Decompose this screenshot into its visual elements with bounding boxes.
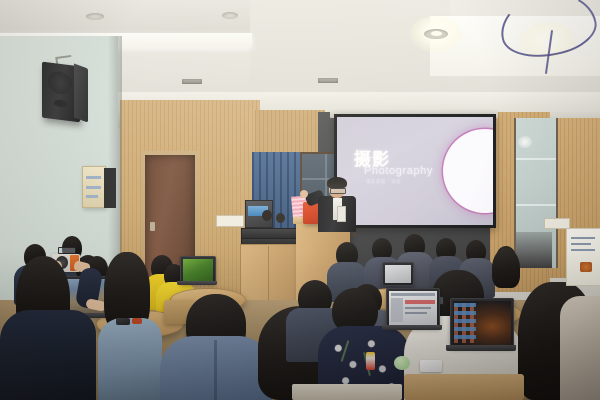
laptop[interactable] [180, 256, 216, 284]
downlight-ring-1 [86, 13, 104, 20]
room-sign-plate [216, 215, 244, 227]
far-person-head [262, 210, 272, 221]
speaker-woofer [48, 70, 72, 95]
red-object [132, 318, 142, 324]
classroom-photo: 摄影 Photography 摄影基础 · 讲座 [0, 0, 600, 400]
audience-body [560, 296, 600, 400]
poster-line [571, 237, 595, 239]
av-cabinet-divider [268, 246, 269, 308]
app-line [405, 307, 431, 309]
paper-on-table [292, 384, 402, 400]
poster-line [571, 249, 595, 251]
laptop[interactable] [450, 298, 514, 348]
ceiling-soffit-left [0, 0, 250, 36]
presenter-hand [300, 190, 308, 198]
app-titlebar [391, 293, 435, 296]
smartphone[interactable] [420, 360, 442, 372]
desktop-icon-grid [454, 303, 476, 343]
slide-title-english: Photography [364, 165, 433, 177]
shirt-seam [214, 340, 217, 400]
wall-sign-small [544, 218, 570, 229]
downlight-ring-2 [222, 12, 238, 19]
app-sidebar [391, 298, 403, 322]
laptop[interactable] [382, 262, 414, 286]
door-handle[interactable] [150, 222, 155, 231]
audience-body-light-blue [98, 318, 162, 400]
far-person-head [276, 213, 285, 223]
laptop-screen-content [389, 291, 437, 325]
laptop-base [382, 325, 442, 330]
audience-glasses-icon [58, 247, 76, 254]
green-cup [394, 356, 410, 370]
notice-board [82, 166, 106, 208]
laptop-base [446, 345, 516, 351]
audience-long-hair [492, 248, 520, 288]
projection-screen: 摄影 Photography 摄影基础 · 讲座 [337, 117, 493, 225]
poster-graphic [580, 262, 592, 272]
wall-poster [566, 228, 600, 286]
glass-mullion [516, 158, 556, 160]
speaker-tweeter [54, 99, 67, 108]
app-highlight [405, 300, 435, 304]
laptop-base [177, 281, 217, 285]
glass-glare [518, 136, 532, 148]
notice-line [86, 195, 98, 198]
small-device[interactable] [116, 318, 130, 325]
presenter-glasses-icon [330, 188, 346, 194]
app-line [405, 312, 427, 314]
presenter-badge [337, 206, 346, 222]
student-with-camera-body [0, 310, 96, 400]
laptop[interactable] [386, 288, 440, 328]
downlight-lamp-1 [431, 31, 442, 36]
slide-subtitle: 摄影基础 · 讲座 [366, 179, 401, 185]
loudspeaker-side [74, 63, 88, 122]
poster-line [571, 243, 591, 245]
laptop-screen-content [453, 301, 511, 345]
small-bottle [366, 352, 375, 370]
notice-line [86, 176, 101, 179]
laptop-screen-content [385, 265, 411, 283]
glass-mullion [516, 204, 556, 206]
notice-line [86, 186, 101, 189]
table-surface [404, 374, 524, 400]
ceiling-vent-2 [182, 79, 202, 84]
ceiling-vent-3 [318, 78, 338, 83]
notice-board-shadow [104, 168, 116, 208]
slide-circle-graphic [443, 129, 493, 213]
people-behind-glass [516, 232, 552, 268]
laptop-screen-content [183, 259, 213, 281]
